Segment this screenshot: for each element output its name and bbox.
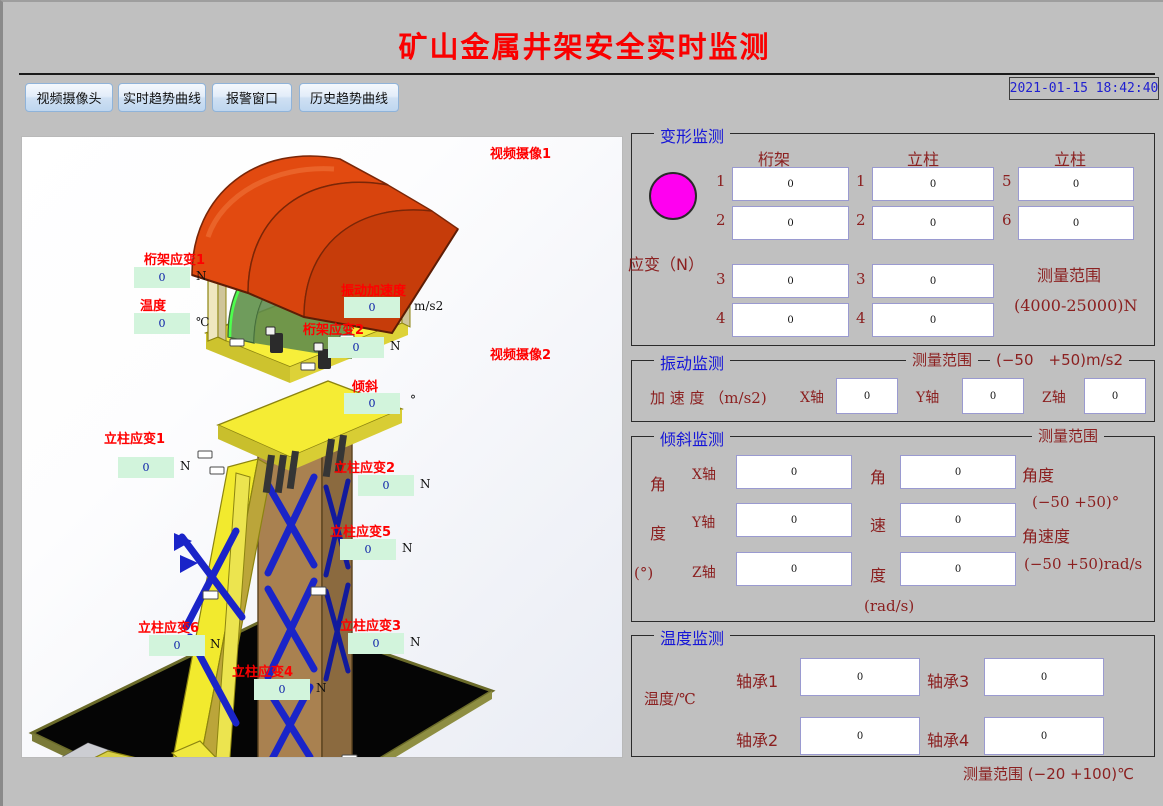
tab-history-trend[interactable]: 历史趋势曲线	[299, 83, 399, 112]
temperature-range-text: 测量范围 (−20 +100)℃	[963, 763, 1134, 784]
deformation-truss-field-3[interactable]: 0	[732, 264, 849, 298]
tilt-legend: 倾斜监测	[654, 426, 730, 450]
clock-display: 2021-01-15 18:42:40	[1009, 77, 1159, 100]
vibration-range-title: 测量范围	[906, 349, 978, 370]
header-divider	[19, 73, 1155, 75]
overlay-value-column-strain-1: 0	[118, 457, 174, 478]
tilt-rate-field-1[interactable]: 0	[900, 455, 1016, 489]
overlay-label-column-strain-4: 立柱应变4	[232, 661, 293, 680]
tilt-rate-field-3[interactable]: 0	[900, 552, 1016, 586]
tilt-axis-label-y: Y轴	[692, 512, 715, 532]
deformation-column-index-5: 5	[1002, 172, 1012, 190]
tilt-angle-unit: (°)	[634, 564, 653, 582]
tilt-rate-field-2[interactable]: 0	[900, 503, 1016, 537]
overlay-unit-tilt: °	[410, 393, 416, 407]
vibration-range-value: (−50 +50)m/s2	[990, 349, 1129, 370]
overlay-unit-column-strain-4: N	[316, 681, 327, 695]
overlay-label-column-strain-1: 立柱应变1	[104, 428, 165, 447]
overlay-value-tilt: 0	[344, 393, 400, 414]
overlay-unit-column-strain-6: N	[210, 637, 221, 651]
overlay-label-column-strain-6: 立柱应变6	[138, 617, 199, 636]
temperature-bearing-label-2: 轴承2	[736, 727, 778, 751]
temperature-axis-label: 温度/℃	[644, 688, 696, 709]
overlay-value-column-strain-5: 0	[340, 539, 396, 560]
overlay-unit-column-strain-3: N	[410, 635, 421, 649]
deformation-truss-index-1: 1	[716, 172, 726, 190]
deformation-truss-index-3: 3	[716, 270, 726, 288]
overlay-unit-truss-strain-2: N	[390, 339, 401, 353]
overlay-unit-temperature: ℃	[196, 315, 209, 329]
tilt-angle-field-y[interactable]: 0	[736, 503, 852, 537]
tilt-axis-label-x: X轴	[692, 464, 716, 484]
overlay-unit-column-strain-5: N	[402, 541, 413, 555]
application-window: 矿山金属井架安全实时监测 视频摄像头 实时趋势曲线 报警窗口 历史趋势曲线 20…	[0, 0, 1163, 806]
deformation-column-index-3: 3	[856, 270, 866, 288]
deformation-truss-field-1[interactable]: 0	[732, 167, 849, 201]
tab-video-camera[interactable]: 视频摄像头	[25, 83, 113, 112]
tab-alarm-window[interactable]: 报警窗口	[212, 83, 292, 112]
tilt-rate-label-1: 角	[870, 464, 886, 488]
vibration-legend: 振动监测	[654, 350, 730, 374]
deformation-truss-field-4[interactable]: 0	[732, 303, 849, 337]
vibration-row-label: 加 速 度 （m/s2)	[650, 387, 767, 408]
deformation-column-index-4: 4	[856, 309, 866, 327]
deformation-column-field-6[interactable]: 0	[1018, 206, 1134, 240]
overlay-unit-vibration-acc: m/s2	[414, 299, 443, 313]
vibration-axis-label-x: X轴	[800, 387, 824, 407]
deformation-group: 变形监测 桁架 立柱 立柱 应变（N） 1 0 2 0 3 0 4 0 1 0 …	[631, 133, 1155, 346]
deformation-range-title: 测量范围	[1037, 262, 1101, 286]
temperature-bearing-label-4: 轴承4	[927, 727, 969, 751]
overlay-value-truss-strain-1: 0	[134, 267, 190, 288]
deformation-column-index-6: 6	[1002, 211, 1012, 229]
vibration-field-x[interactable]: 0	[836, 378, 898, 414]
deformation-column-field-5[interactable]: 0	[1018, 167, 1134, 201]
model-viewer-panel[interactable]: 视频摄像1 视频摄像2 桁架应变1 0 N 温度 0 ℃ 振动加速度 0 m/s…	[21, 136, 623, 758]
overlay-value-vibration-acc: 0	[344, 297, 400, 318]
deformation-column-index-1: 1	[856, 172, 866, 190]
deformation-legend: 变形监测	[654, 123, 730, 147]
temperature-legend: 温度监测	[654, 625, 730, 649]
overlay-label-column-strain-5: 立柱应变5	[330, 521, 391, 540]
deformation-column-field-3[interactable]: 0	[872, 264, 994, 298]
tilt-range-angle-title: 角度	[1022, 462, 1054, 486]
overlay-value-temperature: 0	[134, 313, 190, 334]
temperature-field-2[interactable]: 0	[800, 717, 920, 755]
temperature-bearing-label-3: 轴承3	[927, 668, 969, 692]
tilt-range-rate-value: (−50 +50)rad/s	[1024, 555, 1142, 573]
overlay-unit-column-strain-2: N	[420, 477, 431, 491]
temperature-field-4[interactable]: 0	[984, 717, 1104, 755]
overlay-label-truss-strain-2: 桁架应变2	[303, 319, 364, 338]
camera-label-1: 视频摄像1	[490, 143, 551, 162]
deformation-axis-label: 应变（N）	[628, 251, 704, 275]
deformation-truss-field-2[interactable]: 0	[732, 206, 849, 240]
overlay-label-temperature: 温度	[140, 295, 166, 314]
overlay-value-column-strain-3: 0	[348, 633, 404, 654]
page-title: 矿山金属井架安全实时监测	[3, 24, 1163, 66]
overlay-value-truss-strain-2: 0	[328, 337, 384, 358]
camera-label-2: 视频摄像2	[490, 344, 551, 363]
overlay-value-column-strain-6: 0	[149, 635, 205, 656]
vibration-axis-label-y: Y轴	[916, 387, 939, 407]
tilt-axis-label-z: Z轴	[692, 562, 716, 582]
overlay-value-column-strain-4: 0	[254, 679, 310, 700]
temperature-field-1[interactable]: 0	[800, 658, 920, 696]
deformation-column-index-2: 2	[856, 211, 866, 229]
overlay-value-column-strain-2: 0	[358, 475, 414, 496]
tilt-range-title: 测量范围	[1032, 425, 1104, 446]
deformation-range-value: (4000-25000)N	[1014, 296, 1138, 315]
tab-realtime-trend[interactable]: 实时趋势曲线	[118, 83, 206, 112]
vibration-field-y[interactable]: 0	[962, 378, 1024, 414]
deformation-column-field-2[interactable]: 0	[872, 206, 994, 240]
deformation-column-field-1[interactable]: 0	[872, 167, 994, 201]
temperature-field-3[interactable]: 0	[984, 658, 1104, 696]
tilt-rate-unit: (rad/s)	[864, 597, 914, 615]
overlay-unit-column-strain-1: N	[180, 459, 191, 473]
vibration-axis-label-z: Z轴	[1042, 387, 1066, 407]
overlay-unit-truss-strain-1: N	[196, 269, 207, 283]
temperature-group: 温度监测 温度/℃ 轴承1 0 轴承2 0 轴承3 0 轴承4 0	[631, 635, 1155, 757]
overlay-label-column-strain-2: 立柱应变2	[334, 457, 395, 476]
deformation-truss-index-4: 4	[716, 309, 726, 327]
tilt-angle-field-z[interactable]: 0	[736, 552, 852, 586]
deformation-status-lamp[interactable]	[649, 172, 697, 220]
tilt-range-angle-value: (−50 +50)°	[1032, 493, 1119, 511]
headframe-3d-model	[22, 137, 623, 758]
tilt-angle-field-x[interactable]: 0	[736, 455, 852, 489]
tilt-angle-group-label-2: 度	[650, 520, 666, 544]
tilt-group: 倾斜监测 测量范围 角 度 (°) X轴 0 Y轴 0 Z轴 0 角 0 速 0…	[631, 436, 1155, 622]
tilt-range-rate-title: 角速度	[1022, 523, 1070, 547]
overlay-label-column-strain-3: 立柱应变3	[340, 615, 401, 634]
vibration-field-z[interactable]: 0	[1084, 378, 1146, 414]
overlay-label-truss-strain-1: 桁架应变1	[144, 249, 205, 268]
deformation-column-field-4[interactable]: 0	[872, 303, 994, 337]
temperature-bearing-label-1: 轴承1	[736, 668, 778, 692]
tilt-angle-group-label-1: 角	[650, 471, 666, 495]
tilt-rate-label-3: 度	[870, 562, 886, 586]
vibration-group: 振动监测 测量范围 (−50 +50)m/s2 加 速 度 （m/s2) X轴 …	[631, 360, 1155, 422]
tilt-rate-label-2: 速	[870, 512, 886, 536]
deformation-truss-index-2: 2	[716, 211, 726, 229]
